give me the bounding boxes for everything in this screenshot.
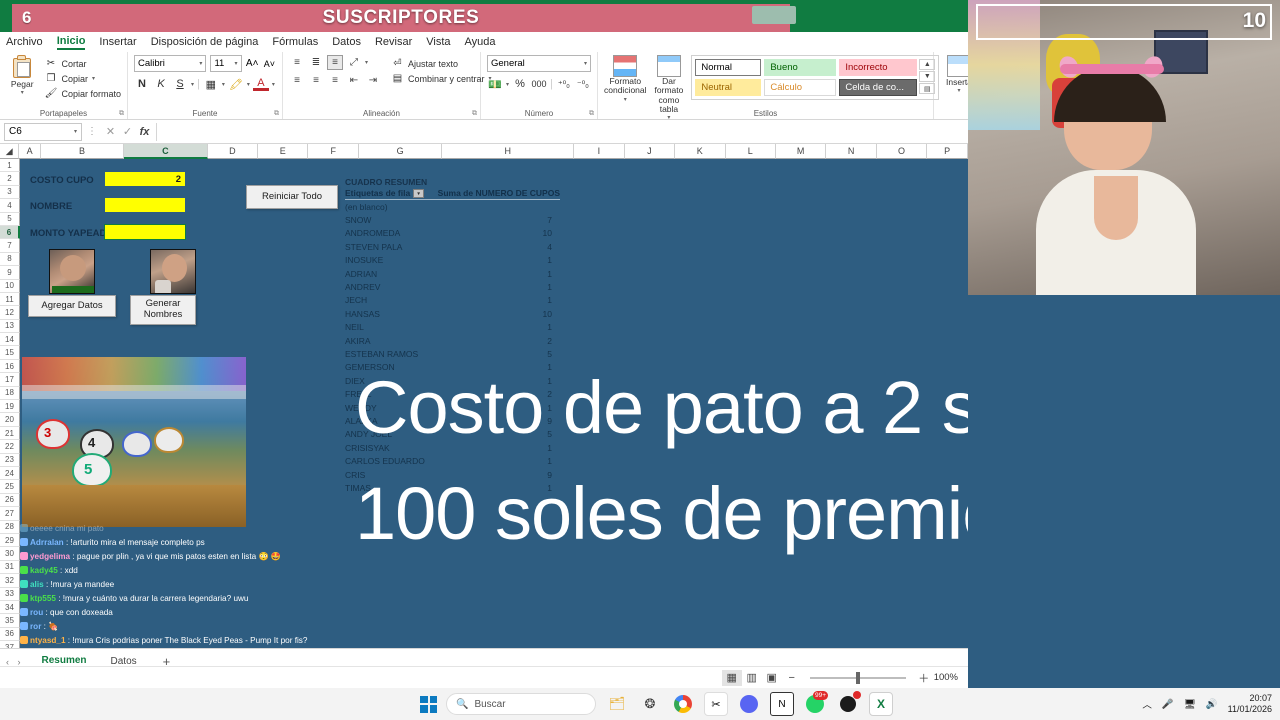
chat-badge-icon (20, 580, 28, 588)
row-header-29[interactable]: 29 (0, 534, 20, 547)
paste-button[interactable]: Pegar ▾ (6, 55, 38, 100)
thumbnail-agregar (49, 249, 95, 294)
pivot-row-value: 4 (547, 242, 560, 252)
pivot-row-name: ANDY JOEL (345, 429, 392, 439)
chat-username: alis (30, 580, 44, 589)
row-header-35[interactable]: 35 (0, 614, 20, 627)
column-header-h[interactable]: H (442, 144, 574, 159)
pivot-row-value: 7 (547, 215, 560, 225)
decrease-decimal-icon[interactable]: ⁻⁰₀ (575, 76, 591, 92)
styles-more-button[interactable]: ▤ (919, 83, 935, 94)
notion-icon[interactable]: N (770, 692, 794, 716)
pivot-row-name: DIEX (345, 376, 365, 386)
row-header-25[interactable]: 25 (0, 480, 20, 493)
tab-ayuda[interactable]: Ayuda (465, 36, 496, 48)
merge-center-button[interactable]: ▤ Combinar y centrar ▾ (391, 72, 492, 85)
font-color-icon[interactable]: A (253, 77, 269, 91)
decrease-font-size-button[interactable]: A˅ (263, 56, 276, 72)
search-icon: 🔍 (456, 699, 468, 710)
chevron-down-icon[interactable]: ▾ (957, 87, 960, 94)
formula-input[interactable] (156, 123, 968, 141)
taskbar-system-tray[interactable]: ︿ 🎤 🖥 🔊 20:07 11/01/2026 (1142, 693, 1272, 715)
reiniciar-todo-button[interactable]: Reiniciar Todo (246, 185, 338, 209)
thumbnail-generar (150, 249, 196, 294)
pivot-row-name: TIMAS (345, 483, 371, 493)
pivot-row-value: 1 (547, 295, 560, 305)
chevron-down-icon[interactable]: ▾ (21, 89, 24, 96)
column-header-a[interactable]: A (19, 144, 40, 159)
chevron-down-icon[interactable]: ▾ (506, 81, 509, 88)
whatsapp-badge: 99+ (813, 691, 828, 700)
number-format-select[interactable]: General ▾ (487, 55, 591, 72)
stream-chat-overlay: oeeee cnina mi patoAdrralan : !arturito … (20, 522, 375, 648)
wrap-text-icon: ⏎ (391, 57, 404, 70)
row-header-18[interactable]: 18 (0, 387, 20, 400)
row-header-34[interactable]: 34 (0, 601, 20, 614)
conditional-format-button[interactable]: Formato condicional ▾ (604, 55, 647, 103)
row-header-31[interactable]: 31 (0, 561, 20, 574)
name-box-value: C6 (9, 126, 22, 137)
insert-function-icon[interactable]: fx (136, 126, 153, 138)
pivot-row-blank[interactable]: (en blanco) (345, 200, 560, 213)
network-icon[interactable]: 🖥 (1184, 699, 1196, 710)
font-size-select[interactable]: 11 ▾ (210, 55, 241, 72)
openai-icon[interactable]: ❂ (638, 692, 662, 716)
align-center-icon[interactable]: ≡ (308, 73, 324, 88)
banner-chip (752, 6, 796, 24)
decrease-indent-icon[interactable]: ⇤ (346, 73, 362, 88)
cell-style-calculo[interactable]: Cálculo (764, 79, 836, 96)
comma-style-icon[interactable]: 000 (531, 76, 547, 92)
row-header-8[interactable]: 8 (0, 253, 20, 266)
row-header-23[interactable]: 23 (0, 454, 20, 467)
row-header-12[interactable]: 12 (0, 306, 20, 319)
pivot-row-name: CARLOS EDUARDO (345, 456, 425, 466)
generar-nombres-button[interactable]: Generar Nombres (130, 295, 196, 325)
pivot-row[interactable]: TIMAS1 (345, 481, 560, 494)
pivot-row[interactable]: ADRIAN1 (345, 267, 560, 280)
fill-color-icon[interactable]: 🖍 (228, 76, 244, 92)
taskbar-apps[interactable]: 🔍 Buscar 🗂 ❂ ✂ N 99+ X (420, 692, 893, 716)
chat-message: ktp555 : !mura y cuánto va durar la carr… (20, 592, 375, 606)
webcam-overlay: 10 (968, 0, 1280, 295)
chat-text: : xdd (58, 566, 78, 575)
race-photo: 3 4 5 (22, 357, 246, 527)
font-dialog-launcher[interactable]: ⧉ (274, 110, 279, 118)
pivot-value-header: Suma de NUMERO DE CUPOS (438, 188, 560, 198)
column-header-n[interactable]: N (826, 144, 876, 159)
chat-badge-icon (20, 622, 28, 630)
ribbon-tabs[interactable]: Archivo Inicio Insertar Disposición de p… (0, 32, 968, 52)
filter-dropdown-icon[interactable]: ▾ (413, 189, 424, 198)
pivot-row[interactable]: CRISISYAK1 (345, 441, 560, 454)
cancel-formula-icon[interactable]: ✕ (102, 125, 119, 138)
tab-archivo[interactable]: Archivo (6, 36, 43, 48)
pivot-row-name: WENDY (345, 403, 377, 413)
row-header-17[interactable]: 17 (0, 373, 20, 386)
pivot-row[interactable]: WENDY1 (345, 401, 560, 414)
chevron-down-icon[interactable]: ▾ (222, 81, 225, 88)
orientation-icon[interactable]: ⤢ (346, 55, 362, 70)
chat-message: yedgelima : pague por plin , ya vi que m… (20, 550, 375, 564)
font-name-value: Calibri (138, 58, 165, 69)
borders-icon[interactable]: ▦ (203, 76, 219, 92)
capcut-icon[interactable]: ✂ (704, 692, 728, 716)
zoom-level-label: 100% (934, 672, 958, 683)
pivot-row-name: STEVEN PALA (345, 242, 402, 252)
pivot-row[interactable]: ANDROMEDA10 (345, 227, 560, 240)
pivot-row-value: 1 (547, 456, 560, 466)
pivot-row-value: 2 (547, 389, 560, 399)
cell-style-neutral[interactable]: Neutral (695, 79, 761, 96)
row-header-24[interactable]: 24 (0, 467, 20, 480)
show-hidden-icons-icon[interactable]: ︿ (1142, 697, 1152, 711)
clock-date: 11/01/2026 (1228, 704, 1272, 715)
pivot-row-value: 1 (547, 322, 560, 332)
ribbon-group-styles: Formato condicional ▾ Dar formato como t… (598, 52, 934, 119)
pivot-row[interactable]: INOSUKE1 (345, 254, 560, 267)
chevron-down-icon[interactable]: ▾ (191, 81, 194, 88)
chat-text: : !arturito mira el mensaje completo ps (64, 538, 205, 547)
row-header-4[interactable]: 4 (0, 199, 20, 212)
volume-icon[interactable]: 🔊 (1206, 699, 1218, 710)
sheet-nav-arrows[interactable]: ‹ › (0, 657, 30, 667)
wrap-text-button[interactable]: ⏎ Ajustar texto (391, 57, 492, 70)
italic-button[interactable]: K (153, 76, 169, 92)
right-backdrop (968, 295, 1280, 688)
column-headers[interactable]: ◢ ABCDEFGHIJKLMNOP (0, 144, 968, 159)
tab-datos[interactable]: Datos (332, 36, 361, 48)
column-header-e[interactable]: E (258, 144, 308, 159)
chat-username: kady45 (30, 566, 58, 575)
status-bar: ▦ ▥ ▣ − ＋ 100% (0, 666, 968, 688)
column-header-g[interactable]: G (359, 144, 442, 159)
column-header-f[interactable]: F (308, 144, 358, 159)
column-header-k[interactable]: K (675, 144, 725, 159)
paste-label: Pegar (11, 79, 34, 89)
chat-badge-icon (20, 524, 28, 532)
excel-icon[interactable]: X (869, 692, 893, 716)
pivot-row-name: SNOW (345, 215, 371, 225)
conditional-format-icon (613, 55, 637, 77)
ribbon-group-alignment: ≡ ≣ ≡ ⤢ ▾ ≡ ≡ ≡ ⇤ ⇥ (283, 52, 481, 119)
chat-username: ktp555 (30, 594, 56, 603)
styles-scroll-up-button[interactable]: ▲ (919, 59, 935, 70)
row-header-13[interactable]: 13 (0, 320, 20, 333)
pivot-table[interactable]: CUADRO RESUMEN Etiquetas de fila ▾ Suma … (345, 177, 560, 495)
nombre-label: NOMBRE (30, 201, 72, 212)
pivot-row-name: ESTEBAN RAMOS (345, 349, 418, 359)
chat-message: kady45 : xdd (20, 564, 375, 578)
number-dialog-launcher[interactable]: ⧉ (589, 110, 594, 118)
merge-center-label: Combinar y centrar (408, 74, 485, 84)
currency-icon[interactable]: 💵 (487, 76, 503, 92)
chevron-down-icon: ▾ (74, 128, 77, 135)
chevron-down-icon[interactable]: ▾ (272, 81, 275, 88)
row-header-9[interactable]: 9 (0, 266, 20, 279)
pivot-row[interactable]: NEIL1 (345, 321, 560, 334)
pivot-row[interactable]: AKIRA2 (345, 334, 560, 347)
pivot-row-value: 1 (547, 403, 560, 413)
row-header-22[interactable]: 22 (0, 440, 20, 453)
cell-style-normal[interactable]: Normal (695, 59, 761, 76)
search-placeholder: Buscar (474, 699, 505, 710)
pivot-row[interactable]: ESTEBAN RAMOS5 (345, 347, 560, 360)
chat-message: ntyasd_1 : !mura Cris podrias poner The … (20, 634, 375, 648)
format-painter-button[interactable]: 🖌 Copiar formato (44, 87, 121, 100)
nombre-input[interactable] (105, 198, 185, 212)
chat-message: rou : que con doxeada (20, 606, 375, 620)
column-header-m[interactable]: M (776, 144, 826, 159)
increase-indent-icon[interactable]: ⇥ (365, 73, 381, 88)
cut-label: Cortar (61, 59, 86, 69)
normal-view-icon[interactable]: ▦ (722, 670, 742, 686)
cell-style-incorrecto[interactable]: Incorrecto (839, 59, 917, 76)
pivot-row[interactable]: ANDREV1 (345, 280, 560, 293)
row-header-16[interactable]: 16 (0, 360, 20, 373)
font-name-select[interactable]: Calibri ▾ (134, 55, 206, 72)
file-explorer-icon[interactable]: 🗂 (605, 692, 629, 716)
ribbon: Pegar ▾ ✂ Cortar ❐ Copiar ▾ 🖌 Co (0, 52, 968, 120)
pivot-row[interactable]: HANSAS10 (345, 307, 560, 320)
row-header-5[interactable]: 5 (0, 213, 20, 226)
chat-text: oeeee cnina mi pato (30, 524, 104, 533)
align-middle-icon[interactable]: ≣ (308, 55, 324, 70)
chat-text: : !mura Cris podrias poner The Black Eye… (66, 636, 308, 645)
pivot-row[interactable]: ANDY JOEL5 (345, 428, 560, 441)
number-group-label: Número (481, 109, 597, 118)
page-break-view-icon[interactable]: ▣ (762, 670, 782, 686)
spreadsheet-grid[interactable]: ◢ ABCDEFGHIJKLMNOP 123456789101112131415… (0, 144, 968, 648)
pivot-row-value: 1 (547, 255, 560, 265)
banner-title: SUSCRIPTORES (12, 7, 790, 29)
alignment-dialog-launcher[interactable]: ⧉ (472, 110, 477, 118)
pivot-row[interactable]: CRIS9 (345, 468, 560, 481)
chevron-down-icon[interactable]: ▾ (247, 81, 250, 88)
column-header-o[interactable]: O (877, 144, 927, 159)
chrome-icon[interactable] (671, 692, 695, 716)
excel-title-bar: 6 SUSCRIPTORES (0, 0, 968, 32)
pivot-row[interactable]: ALAZKA9 (345, 414, 560, 427)
chat-text: : que con doxeada (43, 608, 113, 617)
row-header-37[interactable]: 37 (0, 641, 20, 648)
chat-username: rou (30, 608, 43, 617)
row-header-19[interactable]: 19 (0, 400, 20, 413)
chevron-down-icon[interactable]: ▾ (92, 75, 95, 82)
whatsapp-icon[interactable]: 99+ (803, 692, 827, 716)
pivot-row-value: 9 (547, 470, 560, 480)
tab-disposicion-pagina[interactable]: Disposición de página (151, 36, 259, 48)
copy-label: Copiar (61, 74, 88, 84)
pivot-row[interactable]: DIEX1 (345, 374, 560, 387)
row-header-21[interactable]: 21 (0, 427, 20, 440)
tab-formulas[interactable]: Fórmulas (272, 36, 318, 48)
alignment-group-label: Alineación (283, 109, 480, 118)
row-header-3[interactable]: 3 (0, 186, 20, 199)
discord-icon[interactable] (737, 692, 761, 716)
row-header-27[interactable]: 27 (0, 507, 20, 520)
pivot-row-value: 10 (543, 228, 560, 238)
row-header-20[interactable]: 20 (0, 413, 20, 426)
column-header-l[interactable]: L (726, 144, 776, 159)
font-size-value: 11 (214, 58, 224, 69)
tab-revisar[interactable]: Revisar (375, 36, 412, 48)
sheet-canvas[interactable]: COSTO CUPO 2 NOMBRE MONTO YAPEADO Reinic… (20, 159, 968, 648)
zoom-slider[interactable] (810, 677, 906, 679)
increase-decimal-icon[interactable]: ⁺⁰₀ (556, 76, 572, 92)
taskbar-clock[interactable]: 20:07 11/01/2026 (1228, 693, 1272, 715)
column-header-j[interactable]: J (625, 144, 675, 159)
align-bottom-icon[interactable]: ≡ (327, 55, 343, 70)
start-button-icon[interactable] (420, 696, 437, 713)
merge-cells-icon: ▤ (391, 72, 404, 85)
pivot-row-name: NEIL (345, 322, 364, 332)
confirm-formula-icon[interactable]: ✓ (119, 125, 136, 138)
costo-cupo-input[interactable]: 2 (105, 172, 185, 186)
pivot-row[interactable]: SNOW7 (345, 213, 560, 226)
column-header-i[interactable]: I (574, 144, 624, 159)
microphone-icon[interactable]: 🎤 (1162, 699, 1174, 710)
pivot-row-value: 10 (543, 309, 560, 319)
agregar-datos-button[interactable]: Agregar Datos (28, 295, 116, 317)
chevron-down-icon[interactable]: ▾ (624, 96, 627, 103)
pivot-row-label-header: Etiquetas de fila (345, 188, 410, 198)
taskbar-search-input[interactable]: 🔍 Buscar (446, 693, 596, 715)
number-format-value: General (491, 58, 525, 69)
wrap-text-label: Ajustar texto (408, 59, 458, 69)
align-top-icon[interactable]: ≡ (289, 55, 305, 70)
pivot-row-name: INOSUKE (345, 255, 383, 265)
row-header-32[interactable]: 32 (0, 574, 20, 587)
column-header-c[interactable]: C (124, 144, 207, 159)
pivot-row[interactable]: CARLOS EDUARDO1 (345, 454, 560, 467)
row-header-33[interactable]: 33 (0, 588, 20, 601)
row-header-26[interactable]: 26 (0, 494, 20, 507)
table-format-icon (657, 55, 681, 77)
name-box[interactable]: C6 ▾ (4, 123, 82, 141)
zoom-in-button[interactable]: ＋ (914, 670, 934, 686)
pivot-row-value: 1 (547, 362, 560, 372)
row-header-28[interactable]: 28 (0, 521, 20, 534)
chat-message: Adrralan : !arturito mira el mensaje com… (20, 536, 375, 550)
pivot-row[interactable]: JECH1 (345, 294, 560, 307)
chat-badge-icon (20, 594, 28, 602)
column-header-b[interactable]: B (41, 144, 124, 159)
increase-font-size-button[interactable]: A˄ (246, 56, 259, 72)
clipboard-dialog-launcher[interactable]: ⧉ (119, 110, 124, 118)
tab-inicio[interactable]: Inicio (57, 35, 86, 50)
pivot-row-value: 1 (547, 483, 560, 493)
row-header-7[interactable]: 7 (0, 239, 20, 252)
cell-style-celda-comprobacion[interactable]: Celda de co... (839, 79, 917, 96)
select-all-corner[interactable]: ◢ (0, 144, 19, 159)
row-header-1[interactable]: 1 (0, 159, 20, 172)
styles-scroll-down-button[interactable]: ▼ (919, 71, 935, 82)
page-layout-view-icon[interactable]: ▥ (742, 670, 762, 686)
row-header-15[interactable]: 15 (0, 346, 20, 359)
chat-username: Adrralan (30, 538, 64, 547)
row-header-6[interactable]: 6 (0, 226, 20, 239)
clipboard-group-label: Portapapeles (0, 109, 127, 118)
monto-yapeado-label: MONTO YAPEADO (30, 228, 114, 239)
row-header-14[interactable]: 14 (0, 333, 20, 346)
chat-text: : pague por plin , ya vi que mis patos e… (70, 552, 281, 561)
align-right-icon[interactable]: ≡ (327, 73, 343, 88)
underline-button[interactable]: S (172, 76, 188, 92)
pivot-header-row: Etiquetas de fila ▾ Suma de NUMERO DE CU… (345, 188, 560, 200)
percent-icon[interactable]: % (512, 76, 528, 92)
chat-badge-icon (20, 636, 28, 644)
conditional-format-label: Formato condicional (604, 77, 647, 96)
pivot-row-value: 2 (547, 336, 560, 346)
clock-time: 20:07 (1228, 693, 1272, 704)
clipboard-icon (11, 55, 33, 79)
align-left-icon[interactable]: ≡ (289, 73, 305, 88)
chat-badge-icon (20, 566, 28, 574)
bold-button[interactable]: N (134, 76, 150, 92)
paintbrush-icon: 🖌 (44, 87, 57, 100)
row-header-11[interactable]: 11 (0, 293, 20, 306)
copy-button[interactable]: ❐ Copiar ▾ (44, 72, 121, 85)
chat-username: ntyasd_1 (30, 636, 66, 645)
zoom-out-button[interactable]: − (782, 670, 802, 686)
chevron-down-icon: ▾ (235, 60, 238, 67)
row-header-2[interactable]: 2 (0, 172, 20, 185)
pivot-row-value: 5 (547, 429, 560, 439)
row-headers[interactable]: 1234567891011121314151617181920212223242… (0, 159, 20, 648)
zoom-slider-knob[interactable] (856, 672, 860, 684)
formula-bar: C6 ▾ ⋮ ✕ ✓ fx (0, 120, 968, 144)
pivot-row-name: FRELL (345, 389, 371, 399)
music-icon[interactable] (836, 692, 860, 716)
pivot-row-name: GEMERSON (345, 362, 395, 372)
chevron-down-icon: ▾ (199, 60, 202, 67)
chat-badge-icon (20, 608, 28, 616)
pivot-row-name: ANDROMEDA (345, 228, 400, 238)
pivot-row-name: CRISISYAK (345, 443, 390, 453)
pivot-row-name: ANDREV (345, 282, 380, 292)
column-header-d[interactable]: D (208, 144, 258, 159)
chat-message: ror : 🍖 (20, 620, 375, 634)
tab-insertar[interactable]: Insertar (99, 36, 136, 48)
monto-yapeado-input[interactable] (105, 225, 185, 239)
cut-button[interactable]: ✂ Cortar (44, 57, 121, 70)
pivot-row-name: CRIS (345, 470, 365, 480)
row-header-10[interactable]: 10 (0, 280, 20, 293)
formula-bar-divider: ⋮ (87, 126, 97, 137)
styles-group-label: Estilos (598, 109, 933, 118)
pivot-row-name: ADRIAN (345, 269, 377, 279)
pivot-row-value: 5 (547, 349, 560, 359)
cell-style-bueno[interactable]: Bueno (764, 59, 836, 76)
chat-badge-icon (20, 552, 28, 560)
windows-taskbar[interactable]: 🔍 Buscar 🗂 ❂ ✂ N 99+ X (0, 688, 1280, 720)
pivot-title: CUADRO RESUMEN (345, 177, 560, 188)
row-header-36[interactable]: 36 (0, 628, 20, 641)
pivot-row-name: ALAZKA (345, 416, 378, 426)
row-header-30[interactable]: 30 (0, 547, 20, 560)
chevron-down-icon[interactable]: ▾ (365, 59, 368, 66)
column-header-p[interactable]: P (927, 144, 968, 159)
scissors-icon: ✂ (44, 57, 57, 70)
pivot-row-name: AKIRA (345, 336, 371, 346)
tab-vista[interactable]: Vista (426, 36, 450, 48)
copy-icon: ❐ (44, 72, 57, 85)
pivot-row[interactable]: GEMERSON1 (345, 361, 560, 374)
pivot-row[interactable]: STEVEN PALA4 (345, 240, 560, 253)
pivot-row[interactable]: FRELL2 (345, 387, 560, 400)
ribbon-group-font: Calibri ▾ 11 ▾ A˄ A˅ N K S ▾ | ▦ ▾ 🖍 ▾ (128, 52, 283, 119)
